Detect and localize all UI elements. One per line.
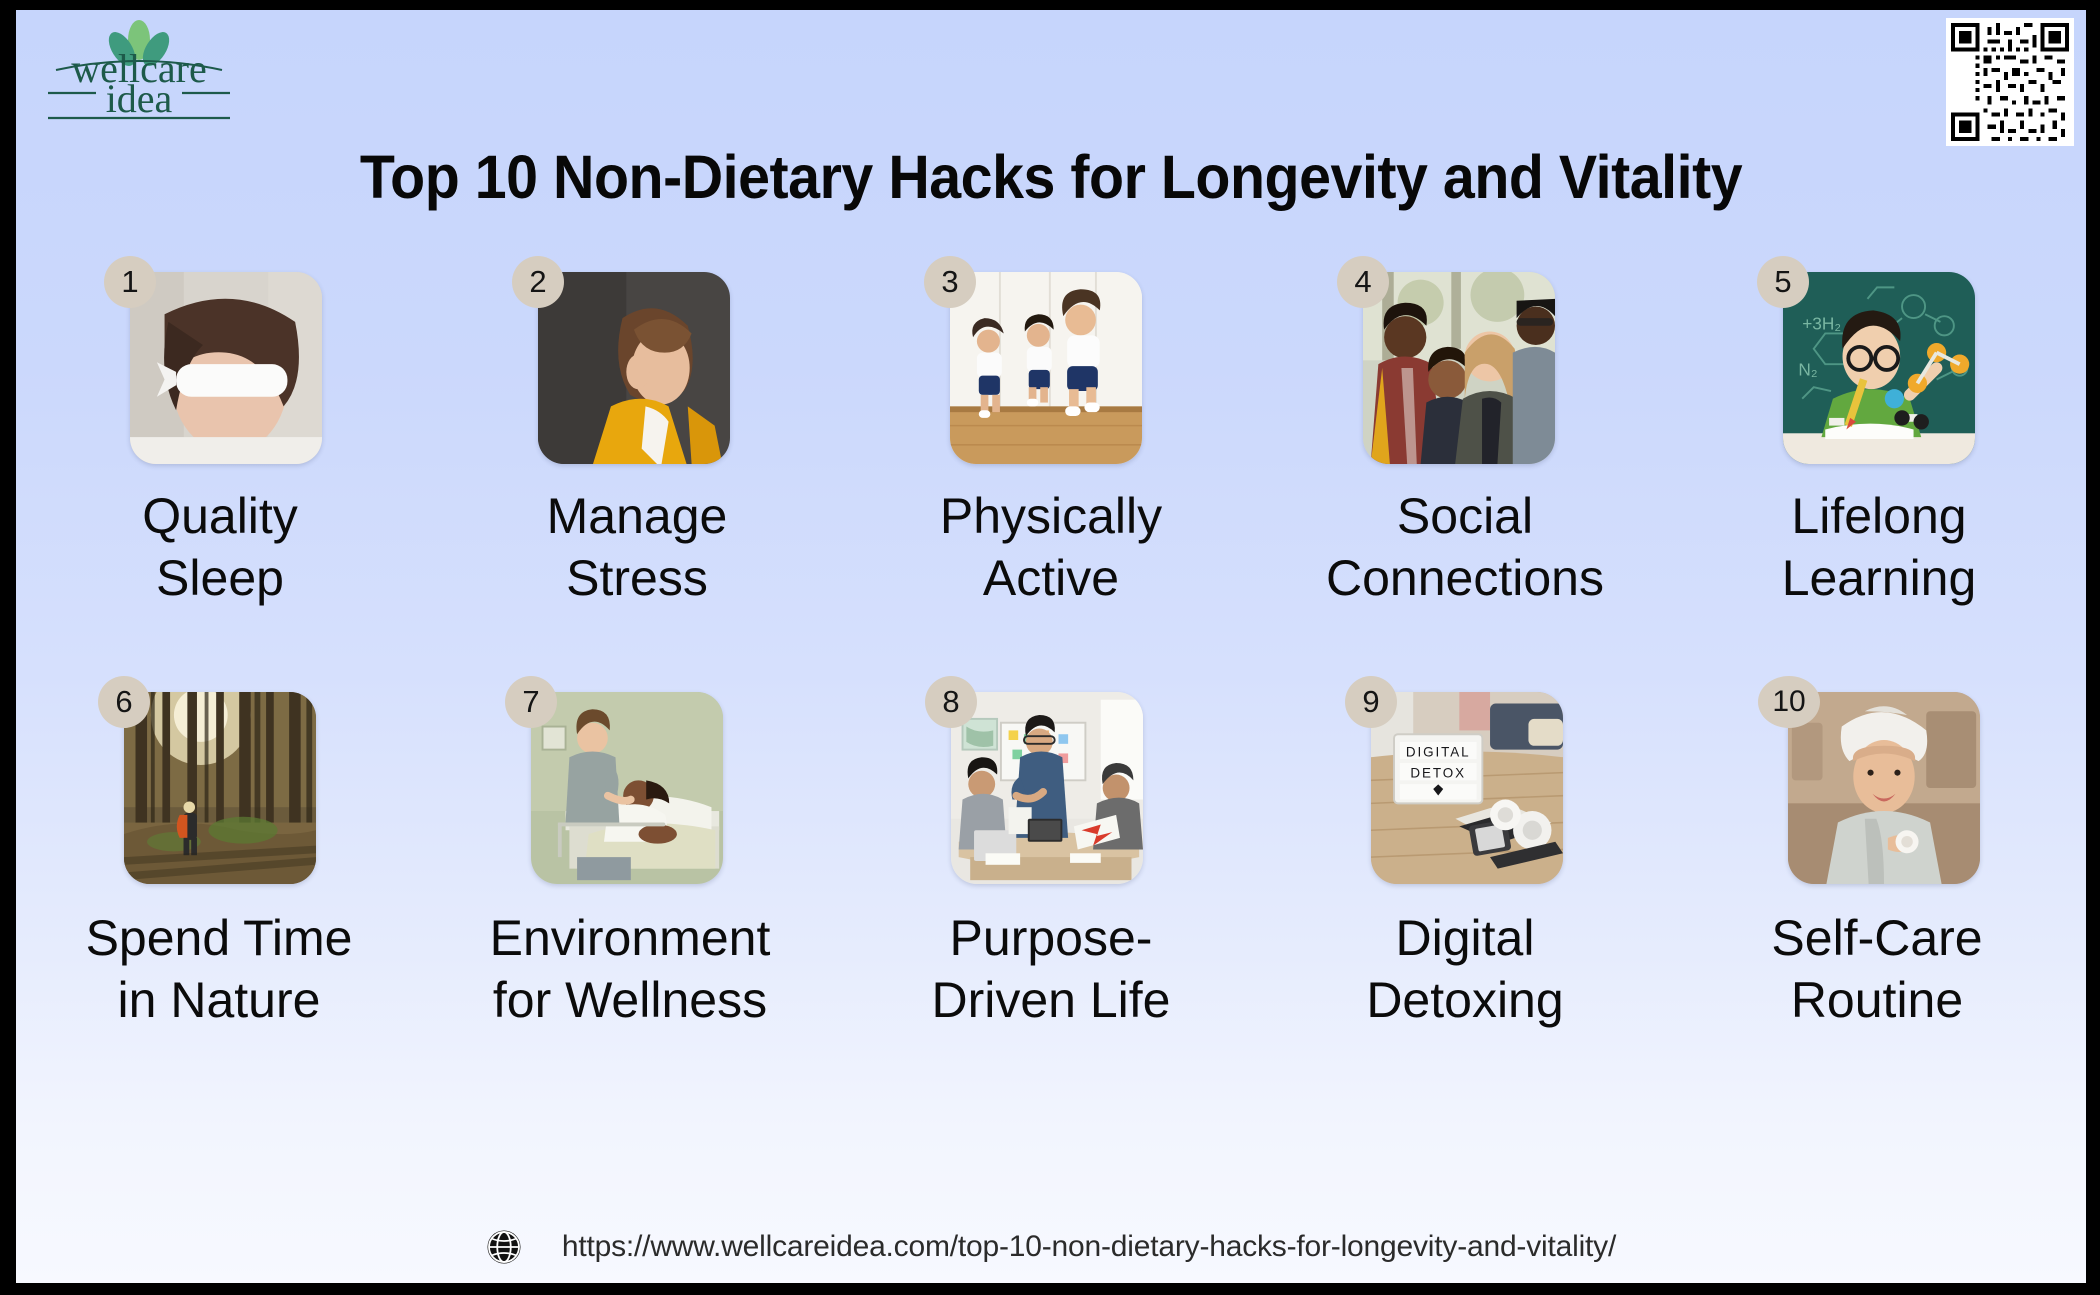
hack-label-1: Quality Sleep	[142, 486, 298, 609]
hack-number-badge-10: 10	[1758, 676, 1820, 728]
hack-label-9: Digital Detoxing	[1366, 908, 1563, 1031]
hack-item-9[interactable]: DIGITAL DETOX	[1258, 692, 1672, 1092]
hack-label-4: Social Connections	[1326, 486, 1604, 609]
hack-item-3[interactable]: 3 Physically Active	[844, 272, 1258, 692]
image-hiker-sunlit-forest	[124, 692, 316, 884]
hacks-row-1: 1 Quality Sleep	[16, 272, 2086, 692]
hack-label-6: Spend Time in Nature	[86, 908, 353, 1031]
hack-number-badge-2: 2	[512, 256, 564, 308]
hack-thumb-wrap-1: 1	[130, 272, 322, 464]
image-stressed-woman-yellow-blazer	[538, 272, 730, 464]
svg-text:+3H₂: +3H₂	[1802, 314, 1841, 334]
image-nurse-patient-bed	[531, 692, 723, 884]
image-children-jumping-gym	[950, 272, 1142, 464]
footer-url[interactable]: https://www.wellcareidea.com/top-10-non-…	[562, 1230, 1616, 1264]
hack-item-1[interactable]: 1 Quality Sleep	[16, 272, 430, 692]
hack-label-3: Physically Active	[940, 486, 1162, 609]
poster-canvas: wellcare idea	[16, 10, 2086, 1283]
hack-item-2[interactable]: 2 Manage Stress	[430, 272, 844, 692]
hack-item-5[interactable]: +3H₂ N₂	[1672, 272, 2086, 692]
svg-text:DIGITAL: DIGITAL	[1406, 744, 1471, 759]
hack-thumb-wrap-2: 2	[538, 272, 730, 464]
footer: https://www.wellcareidea.com/top-10-non-…	[16, 1229, 2086, 1265]
hack-item-8[interactable]: 8 Purpose- Driven Life	[844, 692, 1258, 1092]
hack-thumb-wrap-10: 10	[1788, 692, 1980, 884]
hack-number-badge-8: 8	[925, 676, 977, 728]
hack-number-badge-3: 3	[924, 256, 976, 308]
image-sleep-mask-woman	[130, 272, 322, 464]
hack-item-7[interactable]: 7 Environment for Wellness	[430, 692, 844, 1092]
hack-label-10: Self-Care Routine	[1771, 908, 1982, 1031]
image-woman-towel-skincare	[1788, 692, 1980, 884]
qr-code[interactable]	[1946, 18, 2074, 146]
svg-text:N₂: N₂	[1798, 360, 1817, 380]
image-child-molecule-chalkboard: +3H₂ N₂	[1783, 272, 1975, 464]
hack-thumb-wrap-9: DIGITAL DETOX	[1371, 692, 1563, 884]
globe-icon	[486, 1229, 522, 1265]
hack-item-4[interactable]: 4 Social Connections	[1258, 272, 1672, 692]
svg-text:idea: idea	[106, 76, 173, 121]
hack-thumb-wrap-5: +3H₂ N₂	[1783, 272, 1975, 464]
hack-number-badge-5: 5	[1757, 256, 1809, 308]
hacks-grid: 1 Quality Sleep	[16, 272, 2086, 1092]
hack-number-badge-1: 1	[104, 256, 156, 308]
hack-thumb-wrap-3: 3	[950, 272, 1142, 464]
image-team-meeting-whiteboard	[951, 692, 1143, 884]
hack-number-badge-7: 7	[505, 676, 557, 728]
hack-number-badge-9: 9	[1345, 676, 1397, 728]
hack-label-7: Environment for Wellness	[490, 908, 771, 1031]
hack-thumb-wrap-6: 6	[124, 692, 316, 884]
hack-label-8: Purpose- Driven Life	[932, 908, 1171, 1031]
page-title: Top 10 Non-Dietary Hacks for Longevity a…	[78, 142, 2024, 212]
svg-text:DETOX: DETOX	[1410, 765, 1466, 780]
hack-label-5: Lifelong Learning	[1782, 486, 1977, 609]
hack-label-2: Manage Stress	[547, 486, 728, 609]
hack-item-10[interactable]: 10 Self-Care Routine	[1672, 692, 2086, 1092]
hacks-row-2: 6 Spend Time in Nature	[16, 692, 2086, 1092]
hack-thumb-wrap-8: 8	[951, 692, 1143, 884]
image-digital-detox-lightbox: DIGITAL DETOX	[1371, 692, 1563, 884]
hack-item-6[interactable]: 6 Spend Time in Nature	[16, 692, 430, 1092]
hack-number-badge-6: 6	[98, 676, 150, 728]
brand-logo[interactable]: wellcare idea	[34, 20, 244, 128]
hack-number-badge-4: 4	[1337, 256, 1389, 308]
image-friends-group-outdoors	[1363, 272, 1555, 464]
poster-frame: wellcare idea	[0, 0, 2100, 1295]
hack-thumb-wrap-4: 4	[1363, 272, 1555, 464]
hack-thumb-wrap-7: 7	[531, 692, 723, 884]
